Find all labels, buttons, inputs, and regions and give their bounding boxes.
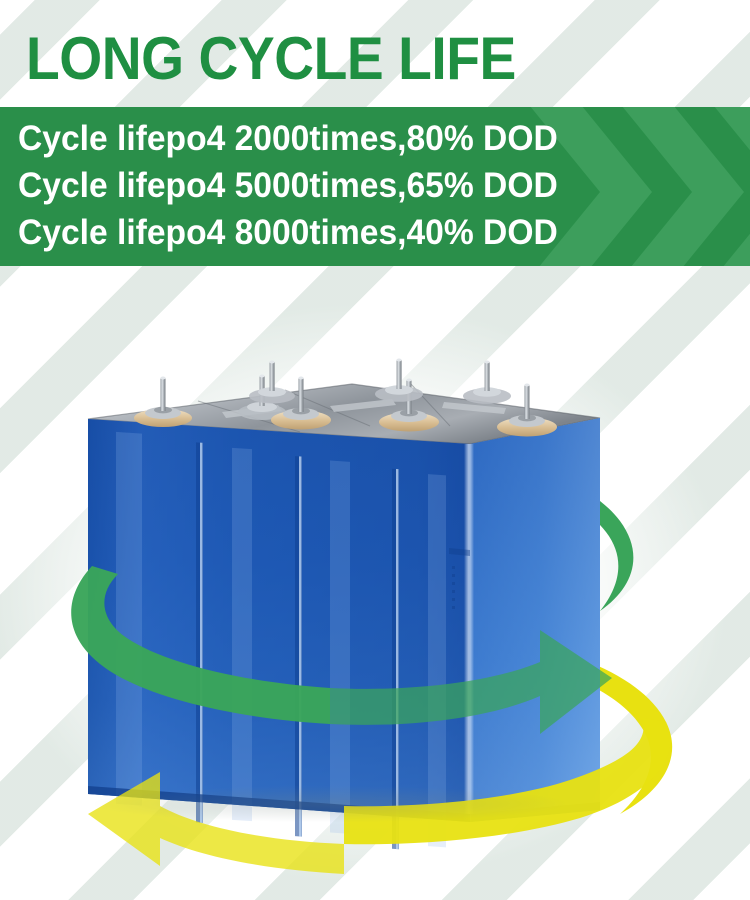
spec-line: Cycle lifepo4 8000times,40% DOD	[18, 209, 709, 256]
battery-side-shade	[470, 418, 600, 822]
terminal	[375, 359, 423, 402]
spec-banner: Cycle lifepo4 2000times,80% DOD Cycle li…	[0, 107, 750, 266]
spec-line: Cycle lifepo4 2000times,80% DOD	[18, 115, 709, 162]
battery-front-shade	[88, 419, 470, 822]
terminal	[249, 361, 295, 404]
page-title: LONG CYCLE LIFE	[26, 26, 670, 92]
terminal	[134, 377, 192, 428]
spec-line: Cycle lifepo4 5000times,65% DOD	[18, 162, 709, 209]
terminal	[463, 361, 511, 404]
battery-pack	[88, 359, 600, 850]
spec-line-list: Cycle lifepo4 2000times,80% DOD Cycle li…	[18, 115, 738, 256]
battery-illustration	[0, 266, 750, 900]
product-stage	[0, 266, 750, 900]
page-title-container: LONG CYCLE LIFE	[26, 26, 726, 104]
header: LONG CYCLE LIFE Cycle lifepo4 2000times,…	[0, 0, 750, 266]
product-poster: LONG CYCLE LIFE Cycle lifepo4 2000times,…	[0, 0, 750, 900]
corner-highlight	[464, 444, 474, 822]
